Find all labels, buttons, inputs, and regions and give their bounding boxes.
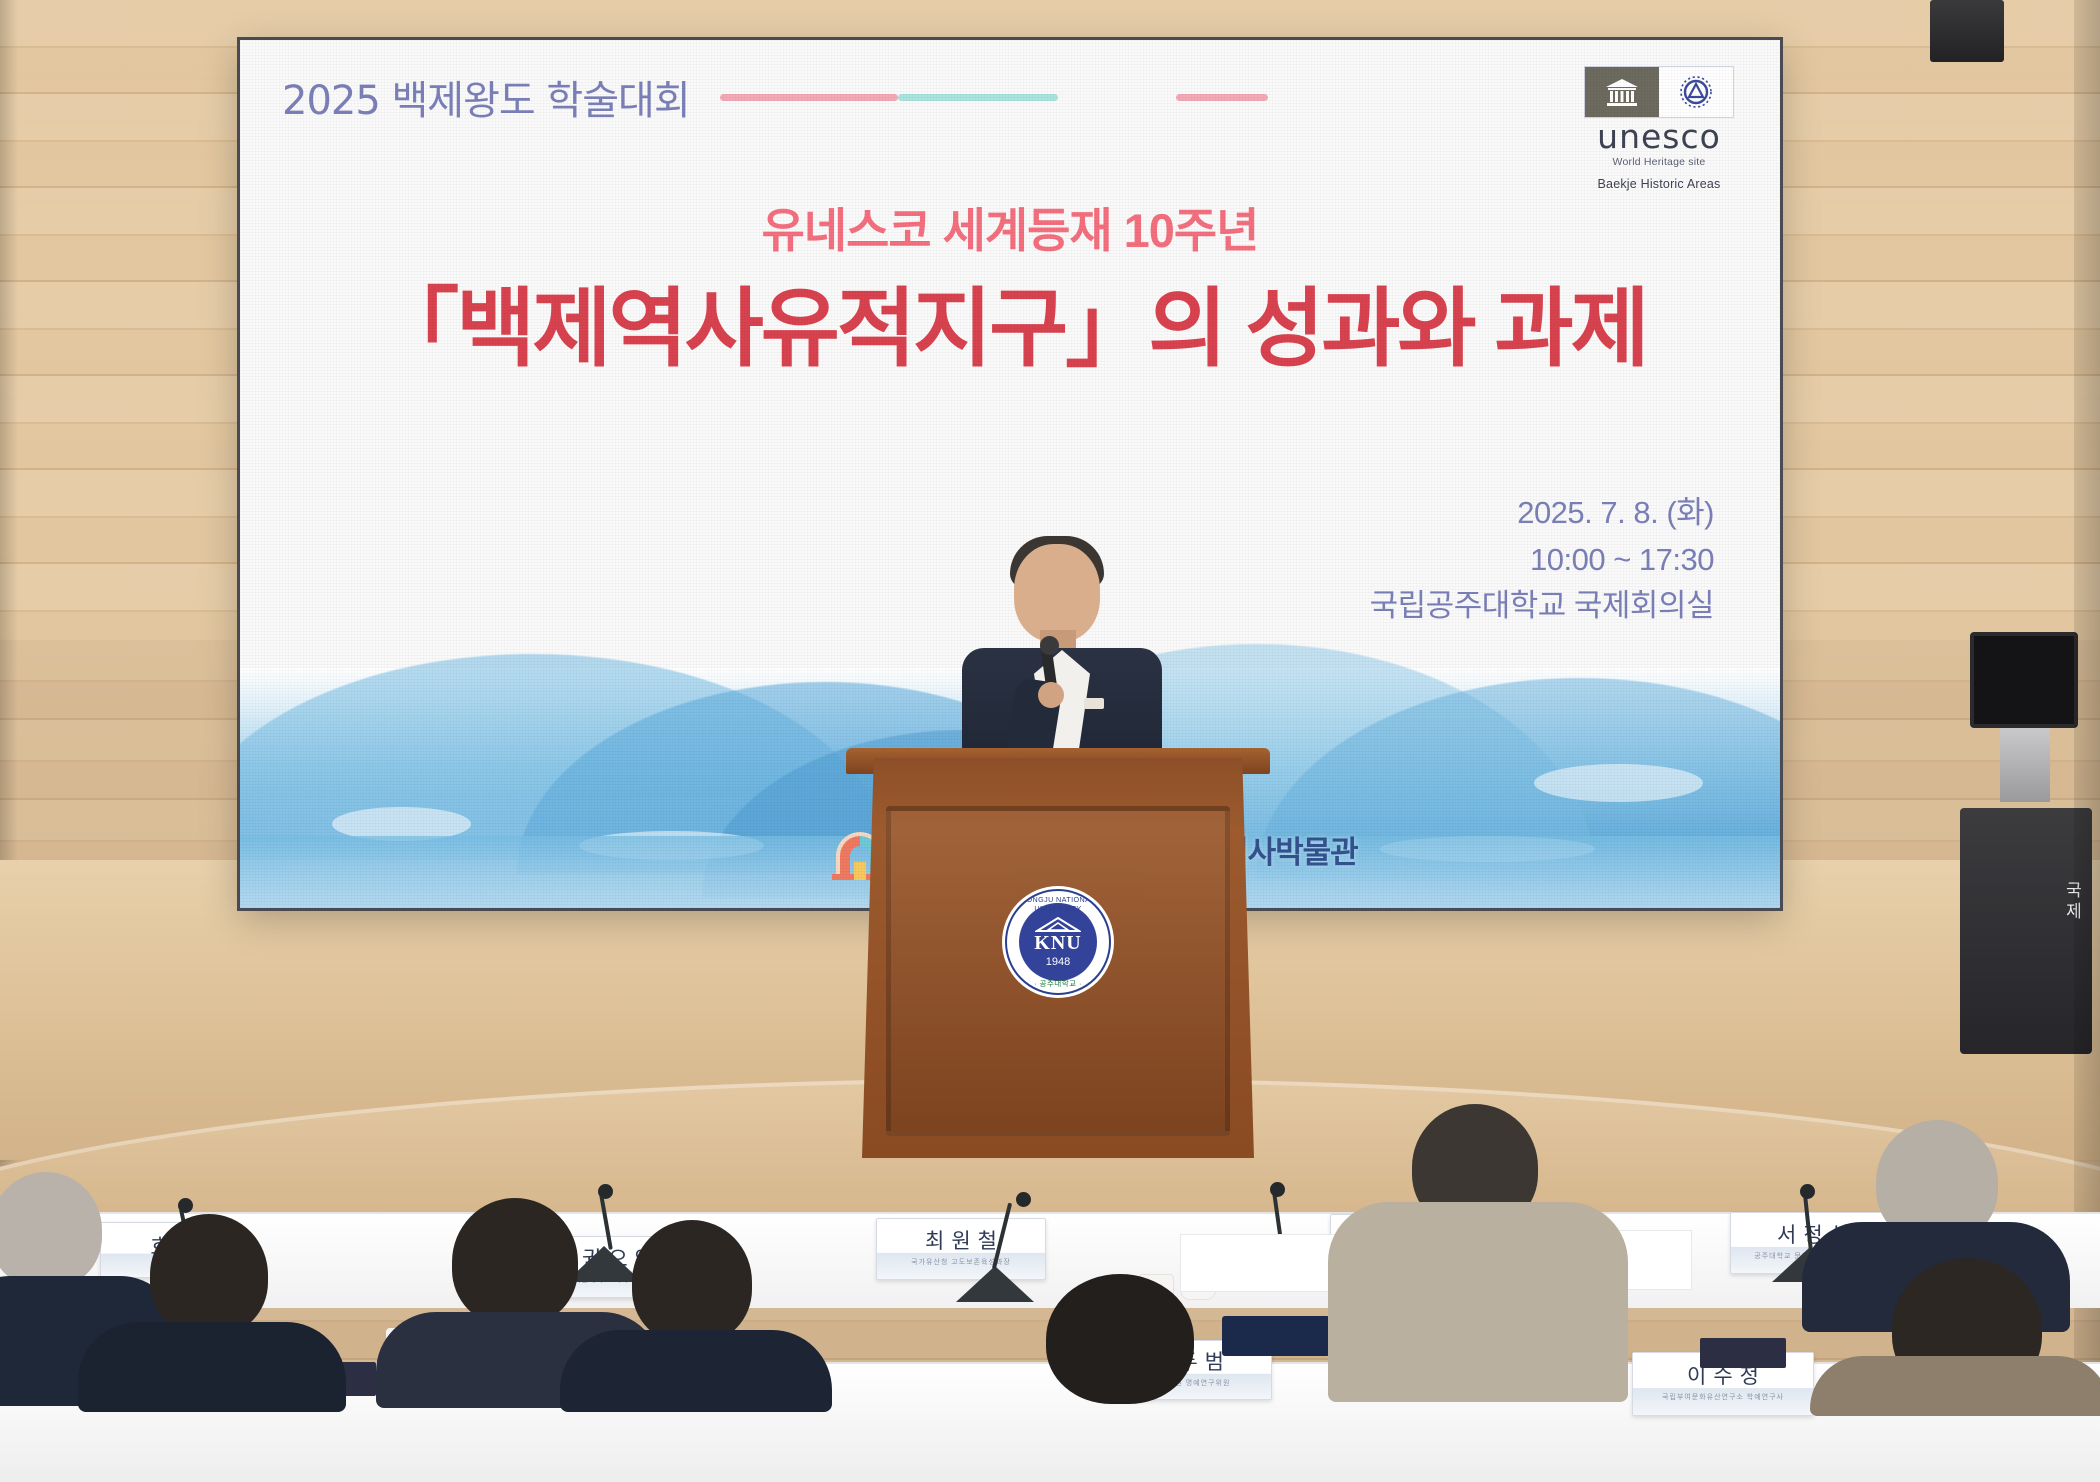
audience-head	[632, 1220, 752, 1344]
slide-header: 2025 백제왕도 학술대회	[282, 68, 1462, 126]
podium: KONGJU NATIONAL UNIVERSITY KNU 1948 · 공주…	[862, 758, 1254, 1158]
microphone-head-icon	[1800, 1184, 1815, 1199]
booklet	[1700, 1338, 1786, 1368]
seal-monogram: KNU	[1034, 933, 1081, 953]
seal-arc-bottom: · 공주대학교 ·	[1007, 978, 1109, 989]
audience-head	[0, 1172, 102, 1288]
audience-shoulders	[1328, 1202, 1628, 1402]
microphone-head-icon	[178, 1198, 193, 1213]
slide-title: 「백제역사유적지구」의 성과와 과제	[240, 258, 1780, 383]
microphone-head-icon	[1016, 1192, 1031, 1207]
nameplate-name: 이수정	[1680, 1366, 1766, 1387]
unesco-wordmark: unesco	[1584, 120, 1734, 153]
conference-hall-room: 주대학교역사박물관 2025 백제왕도 학술대회	[0, 0, 2100, 1400]
slide-subtitle: 유네스코 세계등재 10주년	[240, 192, 1780, 261]
unesco-logo-lockup: unesco World Heritage site Baekje Histor…	[1584, 66, 1734, 191]
nameplate: 최원철 국가유산청 고도보존육성과장	[876, 1218, 1046, 1280]
field-patch	[1534, 764, 1703, 802]
audience-head	[1046, 1274, 1194, 1404]
nameplate-org: 국립부여문화유산연구소 학예연구사	[1662, 1392, 1784, 1402]
nameplate-name: 최원철	[918, 1231, 1004, 1252]
seal-arc-top: KONGJU NATIONAL UNIVERSITY	[1007, 895, 1109, 913]
university-seal: KONGJU NATIONAL UNIVERSITY KNU 1948 · 공주…	[1002, 886, 1114, 998]
audience-shoulders	[1810, 1356, 2100, 1416]
microphone-head-icon	[598, 1184, 613, 1199]
slide-meta-block: 2025. 7. 8. (화) 10:00 ~ 17:30 국립공주대학교 국제…	[1370, 490, 1714, 630]
audience-head	[150, 1214, 268, 1336]
monitor-stand	[2000, 728, 2050, 802]
rule-pink-2	[1176, 94, 1268, 101]
world-heritage-emblem-icon	[1659, 67, 1733, 117]
unesco-temple-icon	[1585, 67, 1659, 117]
control-monitor	[1970, 632, 2078, 728]
speaker-head	[1014, 544, 1100, 642]
audience-shoulders	[78, 1322, 346, 1412]
microphone-head-icon	[1270, 1182, 1285, 1197]
unesco-world-heritage-line: World Heritage site	[1584, 156, 1734, 168]
speaker-hand	[1038, 682, 1064, 708]
seal-year: 1948	[1046, 957, 1070, 968]
speaker-name-badge	[1084, 698, 1104, 709]
audience-head	[452, 1198, 578, 1326]
slide-time: 10:00 ~ 17:30	[1370, 537, 1714, 584]
rule-mint	[898, 94, 1058, 101]
slide-kicker: 2025 백제왕도 학술대회	[282, 68, 690, 126]
seal-roof-icon	[1035, 917, 1081, 933]
slide-date: 2025. 7. 8. (화)	[1370, 490, 1714, 537]
unesco-marks	[1584, 66, 1734, 118]
wall-edge-right	[2074, 0, 2100, 1400]
decorative-rules	[720, 94, 1462, 101]
microphone-head-icon	[1040, 636, 1059, 655]
slide-venue: 국립공주대학교 국제회의실	[1370, 583, 1714, 630]
seal-ring: KONGJU NATIONAL UNIVERSITY KNU 1948 · 공주…	[1005, 889, 1111, 995]
unesco-baekje-line: Baekje Historic Areas	[1584, 177, 1734, 191]
ceiling-speaker-box	[1930, 0, 2004, 62]
rule-gap	[1058, 94, 1176, 101]
rule-pink	[720, 94, 898, 101]
tablet-device	[1222, 1316, 1330, 1356]
speaker-person	[952, 530, 1172, 780]
seal-inner: KNU 1948	[1019, 903, 1097, 981]
